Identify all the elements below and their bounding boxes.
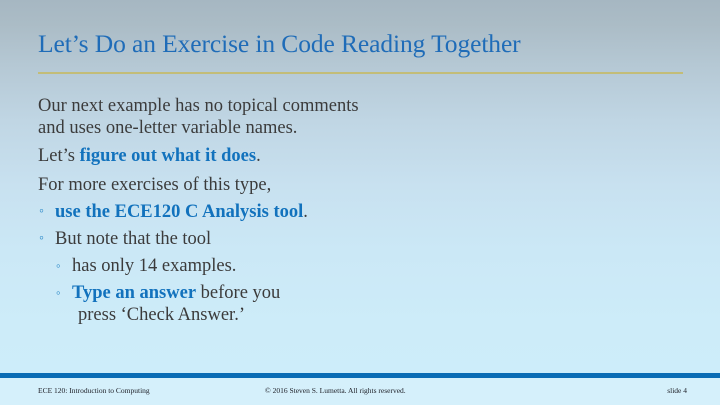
slide-body: Our next example has no topical comments…: [38, 96, 638, 326]
page-title: Let’s Do an Exercise in Code Reading Tog…: [38, 29, 684, 59]
title-block: Let’s Do an Exercise in Code Reading Tog…: [38, 29, 684, 59]
paragraph-figure-out-emphasis: figure out what it does: [80, 146, 256, 166]
list-item-type-answer: ◦Type an answer before youpress ‘Check A…: [55, 282, 638, 326]
bullet-circle-icon: ◦: [39, 201, 44, 223]
paragraph-more-exercises-text: For more exercises of this type,: [38, 175, 271, 195]
slide-canvas: Let’s Do an Exercise in Code Reading Tog…: [0, 0, 720, 405]
list-item-type-answer-emphasis: Type an answer: [72, 283, 196, 303]
paragraph-intro-line1: Our next example has no topical comments: [38, 96, 638, 118]
footer-copyright-label: © 2016 Steven S. Lumetta. All rights res…: [265, 386, 406, 396]
bullet-circle-icon: ◦: [56, 282, 61, 304]
paragraph-figure-out-suffix: .: [256, 146, 261, 166]
list-item-type-answer-suffix: before you: [196, 283, 280, 303]
list-item-use-tool-suffix: .: [303, 202, 308, 222]
footer: ECE 120: Introduction to Computing © 201…: [0, 378, 720, 405]
footer-slide-number: slide 4: [667, 386, 687, 396]
list-item-use-tool: ◦use the ECE120 C Analysis tool.: [38, 201, 638, 223]
list-item-has-examples-text: has only 14 examples.: [72, 256, 236, 276]
paragraph-figure-out-prefix: Let’s: [38, 146, 80, 166]
list-item-type-answer-line2: press ‘Check Answer.’: [72, 304, 638, 326]
title-divider: [38, 72, 683, 74]
paragraph-figure-out: Let’s figure out what it does.: [38, 146, 638, 168]
footer-course-label: ECE 120: Introduction to Computing: [38, 386, 150, 396]
bullet-circle-icon: ◦: [39, 228, 44, 250]
list-item-use-tool-emphasis: use the ECE120 C Analysis tool: [55, 202, 303, 222]
list-item-but-note-text: But note that the tool: [55, 229, 211, 249]
list-item-but-note: ◦But note that the tool: [38, 228, 638, 250]
list-item-has-examples: ◦has only 14 examples.: [55, 255, 638, 277]
bullet-circle-icon: ◦: [56, 255, 61, 277]
paragraph-intro-line2-text: and uses one-letter variable names.: [38, 118, 297, 138]
paragraph-intro-line1-text: Our next example has no topical comments: [38, 96, 359, 116]
paragraph-intro-line2: and uses one-letter variable names.: [38, 118, 638, 140]
paragraph-more-exercises: For more exercises of this type,: [38, 175, 638, 197]
